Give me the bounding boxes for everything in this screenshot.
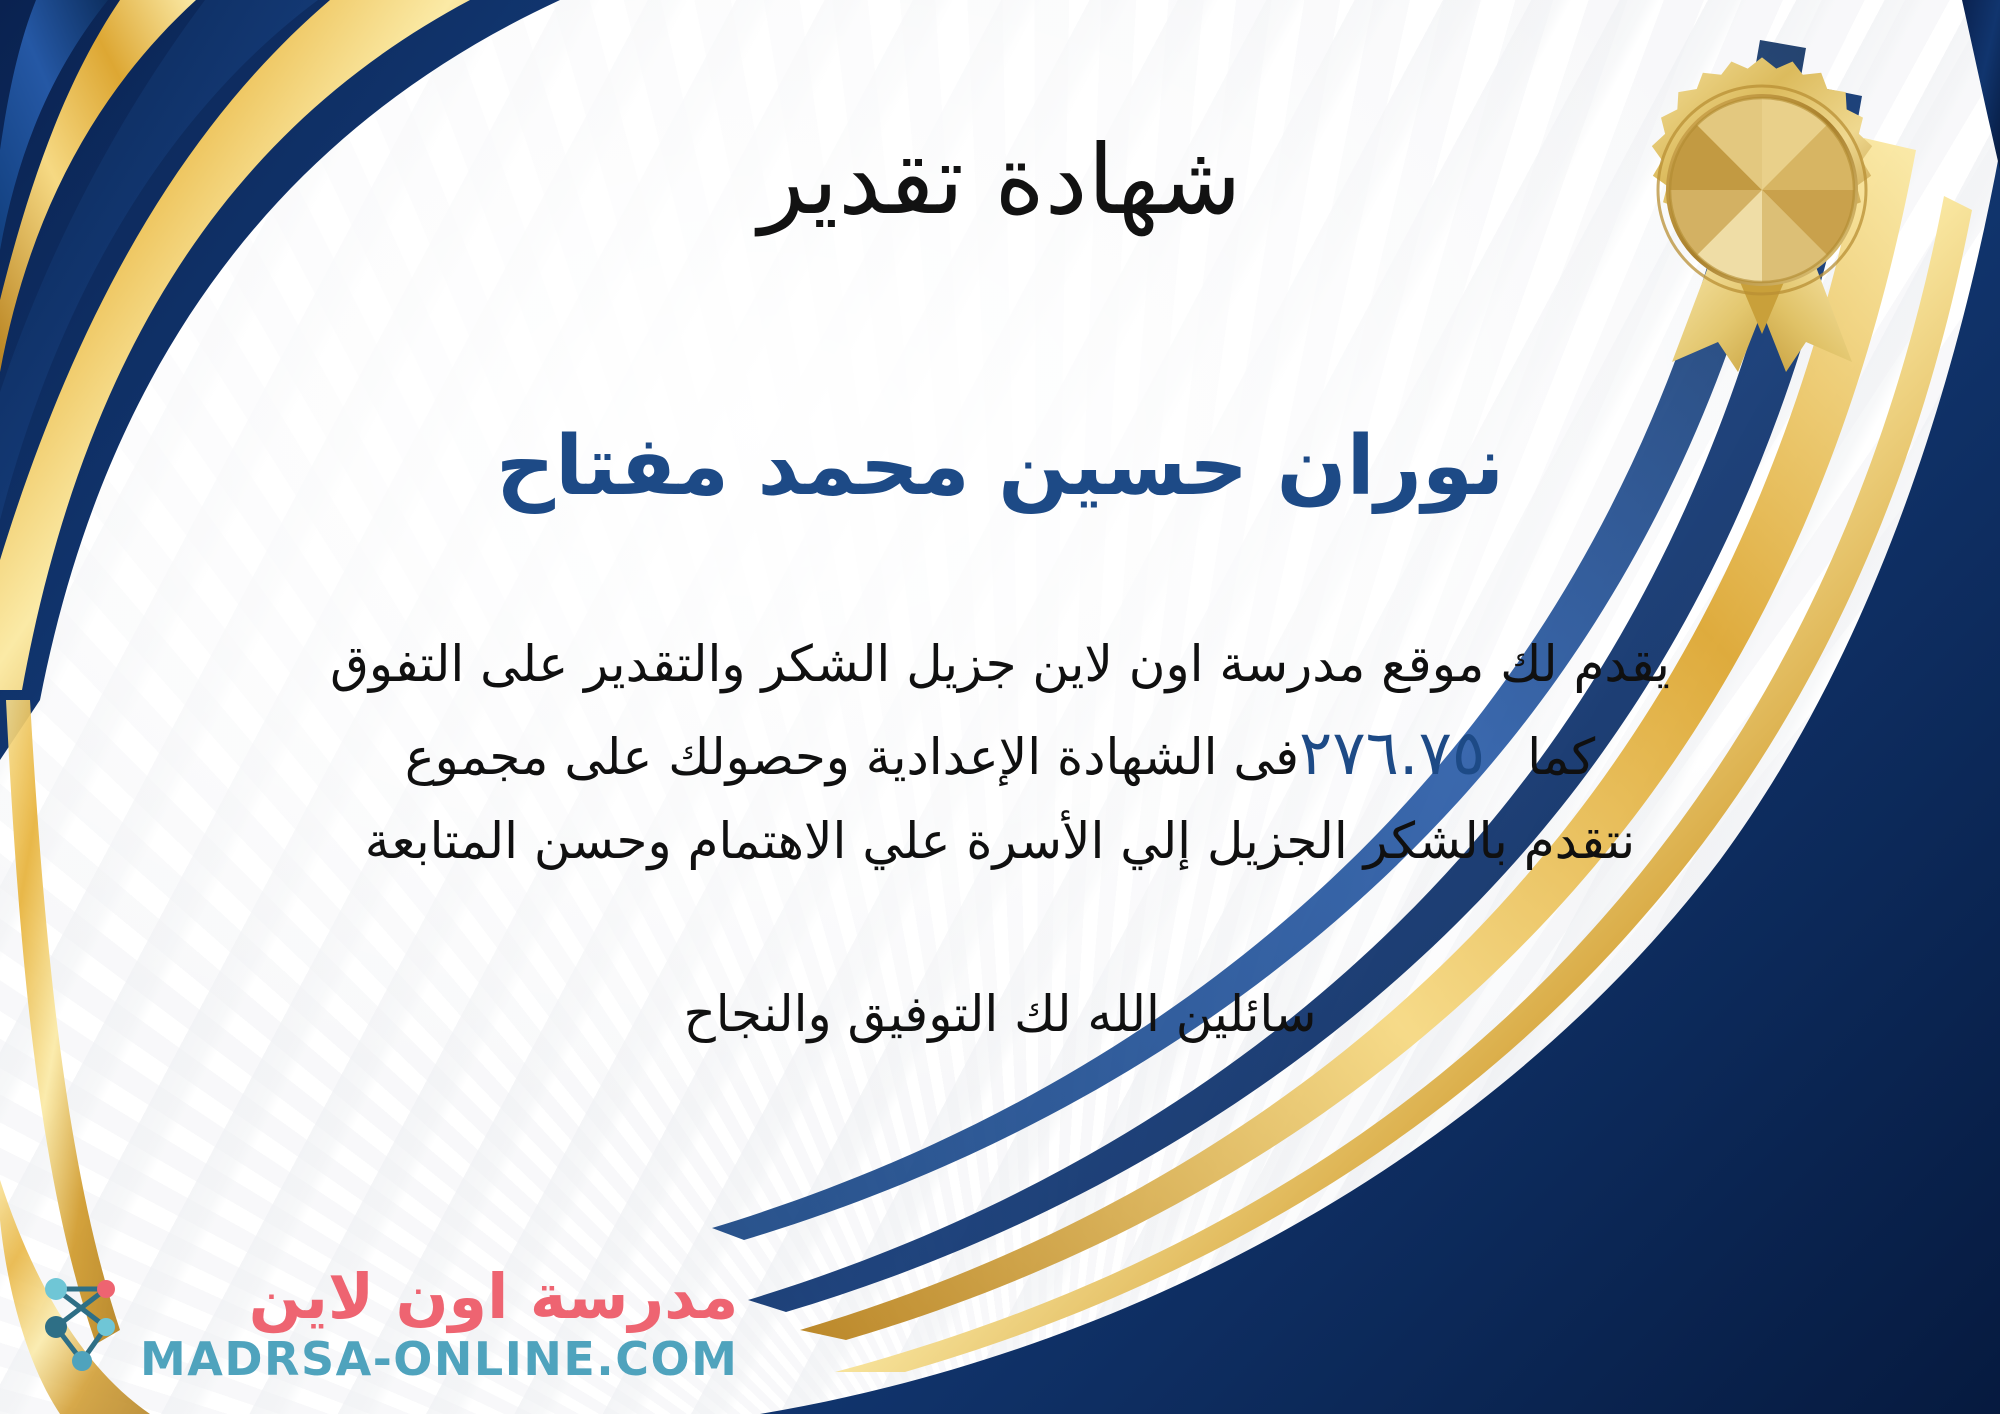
certificate-content: شهادة تقدير نوران حسين محمد مفتاح يقدم ل… <box>0 0 2000 1414</box>
brand-arabic-name: مدرسة اون لاين <box>249 1266 739 1328</box>
certificate-canvas: شهادة تقدير نوران حسين محمد مفتاح يقدم ل… <box>0 0 2000 1414</box>
brand-website: MADRSA-ONLINE.COM <box>140 1336 738 1382</box>
body-line-2-head: فى الشهادة الإعدادية وحصولك على مجموع <box>405 728 1299 786</box>
closing-wish: سائلين الله لك التوفيق والنجاح <box>683 977 1316 1052</box>
recipient-name: نوران حسين محمد مفتاح <box>496 421 1504 513</box>
brand-text: مدرسة اون لاين MADRSA-ONLINE.COM <box>140 1266 738 1382</box>
brand-logo[interactable]: مدرسة اون لاين MADRSA-ONLINE.COM <box>34 1266 738 1382</box>
body-line-3: نتقدم بالشكر الجزيل إلي الأسرة علي الاهت… <box>80 802 1920 881</box>
body-line-2: كما٢٧٦.٧٥فى الشهادة الإعدادية وحصولك على… <box>80 704 1920 802</box>
page-title: شهادة تقدير <box>759 130 1242 231</box>
network-nodes-icon <box>34 1269 130 1379</box>
total-score-value: ٢٧٦.٧٥ <box>1299 704 1485 802</box>
appreciation-body: يقدم لك موقع مدرسة اون لاين جزيل الشكر و… <box>80 625 1920 881</box>
body-line-2-tail: كما <box>1527 728 1595 786</box>
body-line-1: يقدم لك موقع مدرسة اون لاين جزيل الشكر و… <box>80 625 1920 704</box>
